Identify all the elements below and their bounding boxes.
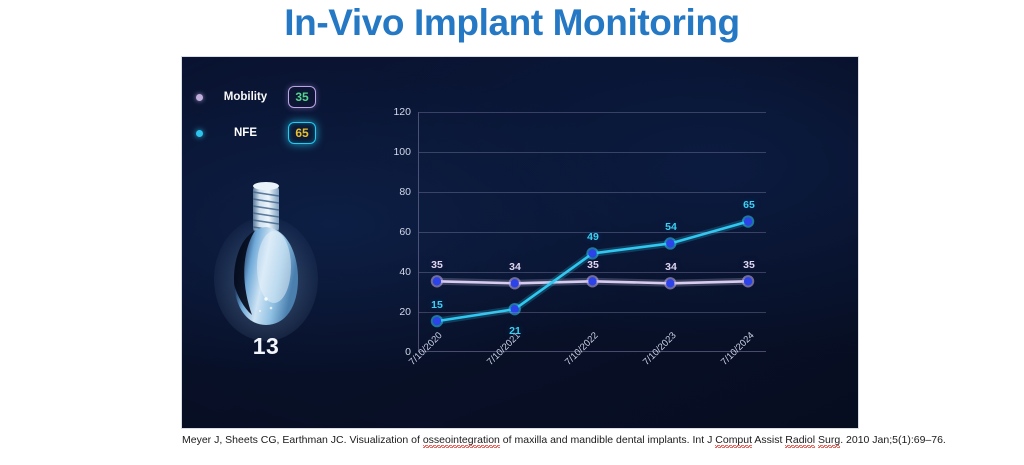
- data-point-marker[interactable]: [744, 217, 752, 225]
- chart-legend: Mobility 35 NFE 65: [196, 82, 316, 154]
- dental-implant-icon: [208, 175, 324, 350]
- data-point-label: 49: [587, 231, 599, 243]
- data-point-label: 65: [743, 199, 755, 211]
- data-point-label: 35: [431, 259, 443, 271]
- caption-part: Assist: [752, 434, 785, 446]
- caption-misspelled-word: Radiol: [785, 434, 815, 448]
- data-point-label: 34: [509, 261, 521, 273]
- data-point-marker[interactable]: [588, 277, 596, 285]
- data-point-label: 35: [587, 259, 599, 271]
- caption-misspelled-word: osseointegration: [423, 434, 500, 448]
- y-axis-tick-label: 40: [399, 266, 411, 278]
- caption-part: . 2010 Jan;5(1):69–76.: [840, 434, 946, 446]
- figure-caption: Meyer J, Sheets CG, Earthman JC. Visuali…: [182, 434, 982, 447]
- data-point-marker[interactable]: [433, 277, 441, 285]
- implant-number: 13: [208, 333, 324, 360]
- data-point-marker[interactable]: [588, 249, 596, 257]
- legend-item-label: Mobility: [203, 91, 288, 103]
- data-point-marker[interactable]: [744, 277, 752, 285]
- page-title: In-Vivo Implant Monitoring: [0, 2, 1024, 44]
- data-point-marker[interactable]: [666, 239, 674, 247]
- caption-misspelled-word: Surg: [818, 434, 840, 448]
- mobility-legend-dot: [196, 94, 203, 101]
- gridline: [419, 112, 766, 113]
- gridline: [419, 152, 766, 153]
- data-point-marker[interactable]: [511, 279, 519, 287]
- data-point-label: 15: [431, 299, 443, 311]
- nfe-value-badge: 65: [288, 122, 316, 144]
- caption-part: of maxilla and mandible dental implants.…: [500, 434, 715, 446]
- y-axis-tick-label: 60: [399, 226, 411, 238]
- legend-item-nfe[interactable]: NFE 65: [196, 118, 316, 148]
- legend-item-label: NFE: [203, 127, 288, 139]
- data-point-marker[interactable]: [433, 317, 441, 325]
- monitoring-panel: Mobility 35 NFE 65: [182, 57, 858, 428]
- nfe-legend-dot: [196, 130, 203, 137]
- y-axis-tick-label: 20: [399, 306, 411, 318]
- plot-area: 0204060801001207/10/20207/10/20217/10/20…: [418, 112, 766, 352]
- gridline: [419, 312, 766, 313]
- gridline: [419, 192, 766, 193]
- data-point-label: 21: [509, 325, 521, 337]
- y-axis-tick-label: 80: [399, 186, 411, 198]
- y-axis-tick-label: 100: [393, 146, 411, 158]
- data-point-marker[interactable]: [666, 279, 674, 287]
- gridline: [419, 272, 766, 273]
- implant-figure: 13: [208, 175, 324, 405]
- data-point-label: 54: [665, 221, 677, 233]
- caption-part: Meyer J, Sheets CG, Earthman JC. Visuali…: [182, 434, 423, 446]
- caption-misspelled-word: Comput: [715, 434, 752, 448]
- y-axis-tick-label: 120: [393, 106, 411, 118]
- legend-item-mobility[interactable]: Mobility 35: [196, 82, 316, 112]
- data-point-label: 34: [665, 261, 677, 273]
- monitoring-line-chart: 0204060801001207/10/20207/10/20217/10/20…: [354, 97, 842, 422]
- data-point-label: 35: [743, 259, 755, 271]
- mobility-value-badge: 35: [288, 86, 316, 108]
